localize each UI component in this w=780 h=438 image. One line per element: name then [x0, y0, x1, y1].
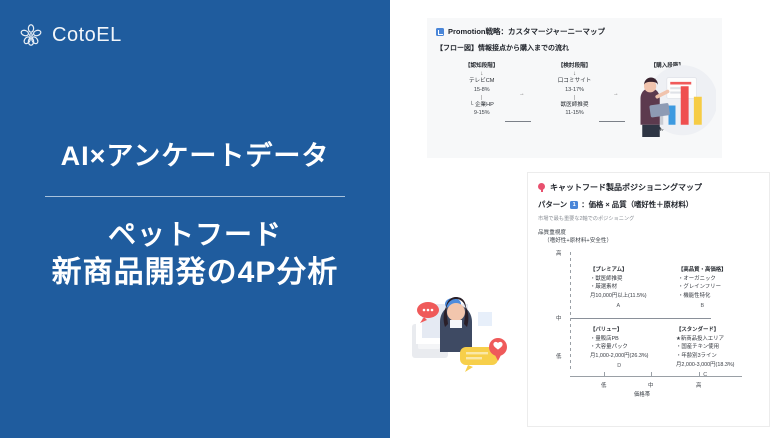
- positioning-map-card: キャットフード製品ポジショニングマップ パターン 1 ：価格 × 品質（嗜好性＋…: [527, 172, 770, 427]
- positioning-map-title-row: キャットフード製品ポジショニングマップ: [538, 182, 759, 193]
- y-tick-low: 低: [556, 352, 561, 360]
- x-axis-title: 価格帯: [634, 390, 650, 398]
- quadrant-point: ・国産チキン使用: [676, 343, 734, 352]
- quadrant-standard: 【スタンダード】 ★新商品投入エリア ・国産チキン使用 ・年齢別3ライン 月2,…: [676, 326, 734, 380]
- flow-connector-line-1: [505, 121, 531, 122]
- flower-asterisk-icon: [18, 22, 44, 48]
- x-notch-low: [604, 372, 605, 377]
- brand-logo: CotoEL: [18, 22, 122, 48]
- flow-node-pct: 15‐8%: [440, 86, 523, 95]
- y-tick-high: 高: [556, 249, 561, 257]
- quadrant-point: ・大容量パック: [590, 343, 648, 352]
- quadrant-point: ・グレインフリー: [678, 283, 727, 292]
- woman-presenting-bar-chart-illustration: [628, 60, 716, 144]
- quadrant-price: 月1,000-2,000円(26.3%): [590, 352, 648, 361]
- woman-with-laptop-chat-illustration: [398, 290, 518, 378]
- y-axis-label-line2: （嗜好性+原材料+安全性）: [538, 237, 759, 245]
- pink-pin-icon: [538, 183, 545, 192]
- flow-connector-line-2: [599, 121, 625, 122]
- quadrant-letter: A: [590, 302, 647, 311]
- blue-slide-icon: [436, 28, 444, 36]
- x-tick-low: 低: [601, 381, 606, 389]
- pattern-label: パターン: [538, 199, 567, 210]
- flow-branch-pct: 9‐15%: [440, 109, 523, 118]
- quadrant-point: ・量販店PB: [590, 335, 648, 344]
- positioning-map-note: 市場で最も重要な2軸でのポジショニング: [538, 215, 759, 222]
- headline-sub-line2: 新商品開発の4P分析: [20, 253, 370, 292]
- quadrant-heading: 【高品質・高価格】: [678, 266, 727, 275]
- quadrant-price: 月10,000円以上(11.5%): [590, 292, 647, 301]
- quadrant-letter: B: [678, 302, 727, 311]
- promotion-flow-subtitle: 【フロー図】情報接点から購入までの流れ: [436, 43, 713, 53]
- positioning-map-title: キャットフード製品ポジショニングマップ: [550, 182, 702, 193]
- flow-column-awareness: 【認知段階】 ↓ テレビCM 15‐8% | └ 企業HP 9‐15%: [440, 62, 523, 134]
- pattern-text: ：価格 × 品質（嗜好性＋原材料）: [581, 199, 693, 210]
- flow-arrow-down-icon: ↓: [440, 71, 523, 78]
- quadrant-value: 【バリュー】 ・量販店PB ・大容量パック 月1,000-2,000円(26.3…: [590, 326, 648, 371]
- flow-branch-label: 獣医師推奨: [533, 101, 616, 110]
- promotion-flow-title: Promotion戦略：カスタマージャーニーマップ: [448, 26, 605, 37]
- title-panel: CotoEL AI×アンケートデータ ペットフード 新商品開発の4P分析: [0, 0, 390, 438]
- quadrant-new-product-point: ★新商品投入エリア: [676, 335, 734, 344]
- flow-node-label: テレビCM: [440, 77, 523, 86]
- quadrant-point: ・獣医師推奨: [590, 275, 647, 284]
- quadrant-high-quality: 【高品質・高価格】 ・オーガニック ・グレインフリー ・機能性特化 B: [678, 266, 727, 311]
- flow-branch-pct: 11‐15%: [533, 109, 616, 118]
- flow-node-pct: 13‐17%: [533, 86, 616, 95]
- quadrant-point: ・機能性特化: [678, 292, 727, 301]
- brand-name: CotoEL: [52, 24, 122, 47]
- y-axis-label-line1: 品質重視度: [538, 229, 759, 237]
- positioning-map-pattern-row: パターン 1 ：価格 × 品質（嗜好性＋原材料）: [538, 199, 759, 210]
- y-axis-label: 品質重視度 （嗜好性+原材料+安全性）: [538, 229, 759, 246]
- content-panel: Promotion戦略：カスタマージャーニーマップ 【フロー図】情報接点から購入…: [390, 0, 780, 438]
- flow-node-label: 口コミサイト: [533, 77, 616, 86]
- pattern-badge: 1: [570, 201, 578, 209]
- flow-stage-label: 【認知段階】: [440, 62, 523, 71]
- quadrant-point: ・年齢別3ライン: [676, 352, 734, 361]
- quadrant-letter: D: [590, 362, 648, 371]
- mid-horizontal-line: [571, 318, 711, 319]
- promotion-flow-card: Promotion戦略：カスタマージャーニーマップ 【フロー図】情報接点から購入…: [427, 18, 722, 158]
- headline-block: AI×アンケートデータ ペットフード 新商品開発の4P分析: [0, 140, 390, 292]
- quadrant-heading: 【バリュー】: [590, 326, 648, 335]
- quadrant-heading: 【スタンダード】: [676, 326, 734, 335]
- slide-root: CotoEL AI×アンケートデータ ペットフード 新商品開発の4P分析 Pro…: [0, 0, 780, 438]
- x-tick-high: 高: [696, 381, 701, 389]
- x-notch-mid: [651, 372, 652, 377]
- x-tick-mid: 中: [648, 381, 653, 389]
- promotion-flow-title-row: Promotion戦略：カスタマージャーニーマップ: [436, 26, 713, 37]
- flow-branch-label: └ 企業HP: [440, 101, 523, 110]
- flow-stage-label: 【検討段階】: [533, 62, 616, 71]
- y-axis-line: [570, 252, 571, 370]
- positioning-plot: 高 中 低 低 中 高 価格帯 【プレミアム】 ・獣医師推奨 ・厳選素材 月10…: [538, 248, 760, 398]
- headline-sub-line1: ペットフード: [20, 217, 370, 253]
- headline-main: AI×アンケートデータ: [20, 140, 370, 174]
- flow-column-consideration: 【検討段階】 ↓ 口コミサイト 13‐17% | 獣医師推奨 11‐15%: [533, 62, 616, 134]
- quadrant-price: 月2,000-3,000円(18.3%): [676, 361, 734, 370]
- flow-side-arrow-1: →: [519, 91, 525, 97]
- quadrant-premium: 【プレミアム】 ・獣医師推奨 ・厳選素材 月10,000円以上(11.5%) A: [590, 266, 647, 311]
- flow-side-arrow-2: →: [613, 91, 619, 97]
- quadrant-point: ・オーガニック: [678, 275, 727, 284]
- quadrant-letter: C: [676, 371, 734, 380]
- y-tick-mid: 中: [556, 314, 561, 322]
- flow-arrow-down-icon: ↓: [533, 71, 616, 78]
- headline-divider: [45, 196, 345, 197]
- quadrant-heading: 【プレミアム】: [590, 266, 647, 275]
- quadrant-point: ・厳選素材: [590, 283, 647, 292]
